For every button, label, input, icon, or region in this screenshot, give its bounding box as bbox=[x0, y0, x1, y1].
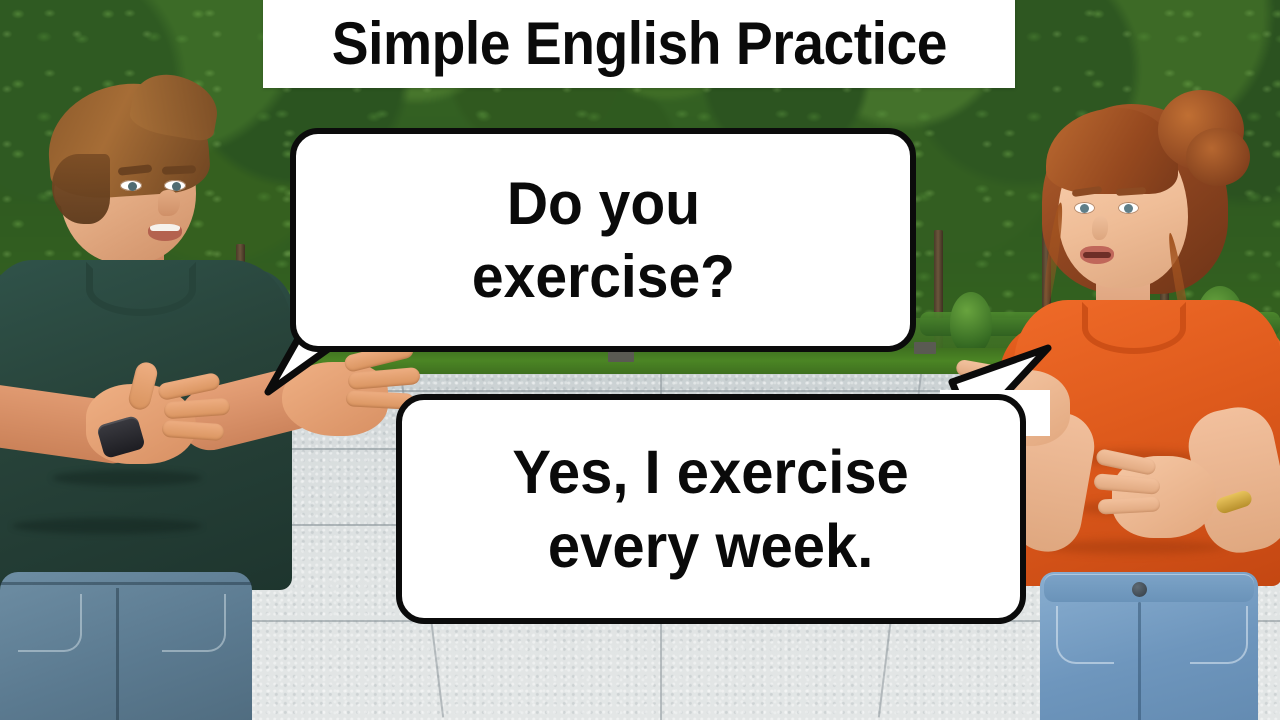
page-title: Simple English Practice bbox=[331, 8, 946, 74]
woman-mouth-inner bbox=[1083, 252, 1111, 258]
answer-bubble-text: Yes, I exercise every week. bbox=[513, 435, 909, 584]
woman-pupil bbox=[1080, 204, 1089, 213]
man-nose bbox=[158, 190, 180, 216]
jeans-pocket bbox=[18, 594, 82, 652]
video-frame: Do you exercise? Yes, I exercise every w… bbox=[0, 0, 1280, 720]
question-bubble: Do you exercise? bbox=[290, 128, 916, 352]
man-mouth bbox=[148, 224, 182, 241]
woman-jeans-waistband bbox=[1044, 574, 1254, 602]
man-teeth bbox=[150, 224, 180, 231]
jeans-fly-seam bbox=[1138, 602, 1141, 720]
title-banner: Simple English Practice bbox=[263, 0, 1015, 88]
man-jeans bbox=[0, 572, 252, 720]
jeans-pocket bbox=[1056, 606, 1114, 664]
jeans-seam bbox=[116, 588, 119, 720]
man-collar bbox=[86, 262, 196, 316]
man-pupil bbox=[128, 182, 137, 191]
shirt-fold bbox=[52, 470, 202, 486]
jeans-pocket bbox=[1190, 606, 1248, 664]
answer-bubble: Yes, I exercise every week. bbox=[396, 394, 1026, 624]
woman-pupil bbox=[1124, 204, 1133, 213]
jeans-button bbox=[1132, 582, 1147, 597]
woman-mouth bbox=[1080, 246, 1114, 264]
man-pupil bbox=[172, 182, 181, 191]
jeans-waistband bbox=[0, 582, 252, 585]
woman-hair-bun-lower bbox=[1186, 128, 1250, 186]
woman-collar bbox=[1082, 302, 1186, 354]
question-bubble-text: Do you exercise? bbox=[471, 167, 734, 313]
shirt-fold bbox=[12, 518, 202, 534]
man-hair-fade bbox=[52, 154, 110, 224]
woman-nose bbox=[1092, 216, 1108, 240]
jeans-pocket bbox=[162, 594, 226, 652]
